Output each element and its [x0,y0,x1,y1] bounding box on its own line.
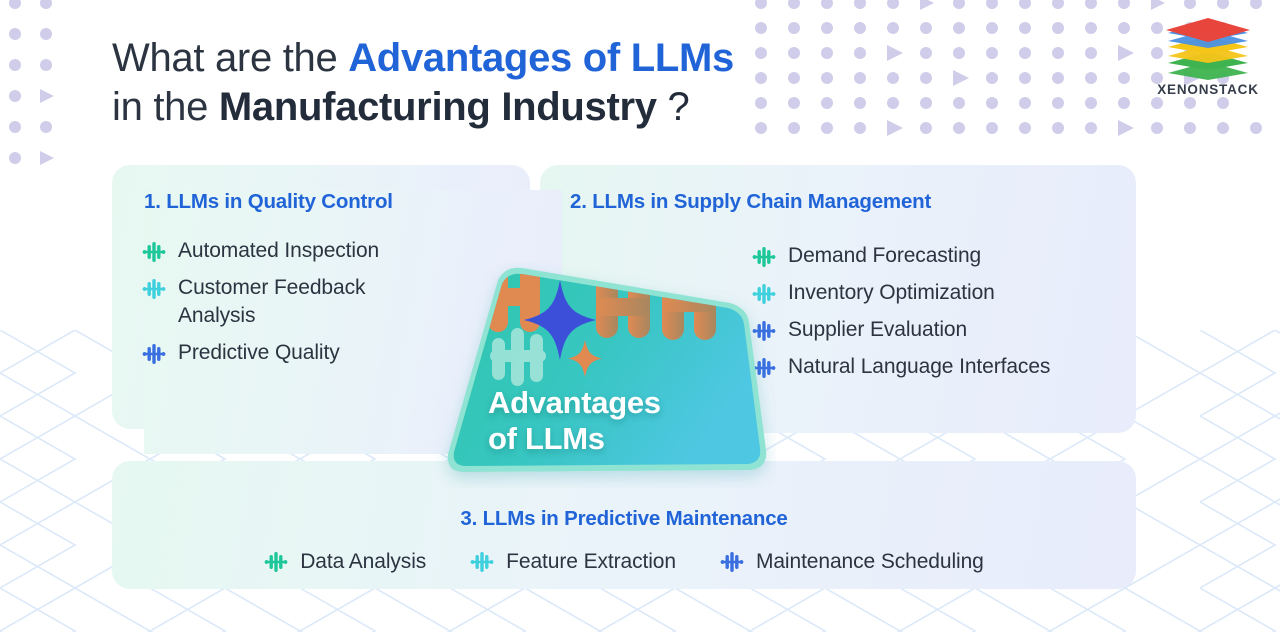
list-item-label: Customer Feedback Analysis [178,274,365,330]
brand-logo: XENONSTACK [1152,18,1264,97]
center-badge-advantages-of-llms [430,262,776,488]
title-question-mark: ? [657,85,690,129]
list-item[interactable]: Maintenance Scheduling [720,548,984,576]
list-item-label: Inventory Optimization [788,279,995,307]
page-title: What are the Advantages of LLMs in the M… [112,34,752,132]
list-item-label: Automated Inspection [178,237,379,265]
list-item-label: Demand Forecasting [788,242,981,270]
waveform-icon [470,550,494,574]
list-item[interactable]: Demand Forecasting [752,242,1050,270]
decorative-dot-field-left [6,0,66,169]
xenonstack-stack-icon [1152,18,1264,80]
list-item-label: Natural Language Interfaces [788,353,1050,381]
card-quality-control-list: Automated Inspection Customer Feedback A… [142,237,379,376]
list-item[interactable]: Predictive Quality [142,339,379,367]
title-line1-accent: Advantages of LLMs [348,36,734,80]
list-item-label: Maintenance Scheduling [756,548,984,576]
logo-wordmark: XENONSTACK [1152,82,1264,97]
title-line1-plain: What are the [112,36,348,80]
waveform-icon [142,277,166,301]
list-item-label: Feature Extraction [506,548,676,576]
list-item-label: Data Analysis [300,548,426,576]
list-item-label: Predictive Quality [178,339,340,367]
title-line2-plain: in the [112,85,219,129]
waveform-icon [142,240,166,264]
title-line2-bold: Manufacturing Industry [219,85,657,129]
list-item[interactable]: Natural Language Interfaces [752,353,1050,381]
waveform-icon [720,550,744,574]
list-item[interactable]: Feature Extraction [470,548,676,576]
list-item-label: Supplier Evaluation [788,316,967,344]
card-predictive-maintenance-list: Data Analysis Feature Extraction [112,548,1136,576]
list-item[interactable]: Automated Inspection [142,237,379,265]
list-item[interactable]: Supplier Evaluation [752,316,1050,344]
list-item[interactable]: Inventory Optimization [752,279,1050,307]
card-title-predictive-maintenance: 3. LLMs in Predictive Maintenance [112,507,1136,531]
waveform-icon [142,342,166,366]
card-supply-chain-list: Demand Forecasting Inventory Optimizatio… [752,242,1050,390]
card-title-supply-chain-management: 2. LLMs in Supply Chain Management [570,190,931,214]
list-item[interactable]: Data Analysis [264,548,426,576]
infographic-canvas: What are the Advantages of LLMs in the M… [0,0,1280,632]
list-item[interactable]: Customer Feedback Analysis [142,274,379,330]
waveform-icon [264,550,288,574]
